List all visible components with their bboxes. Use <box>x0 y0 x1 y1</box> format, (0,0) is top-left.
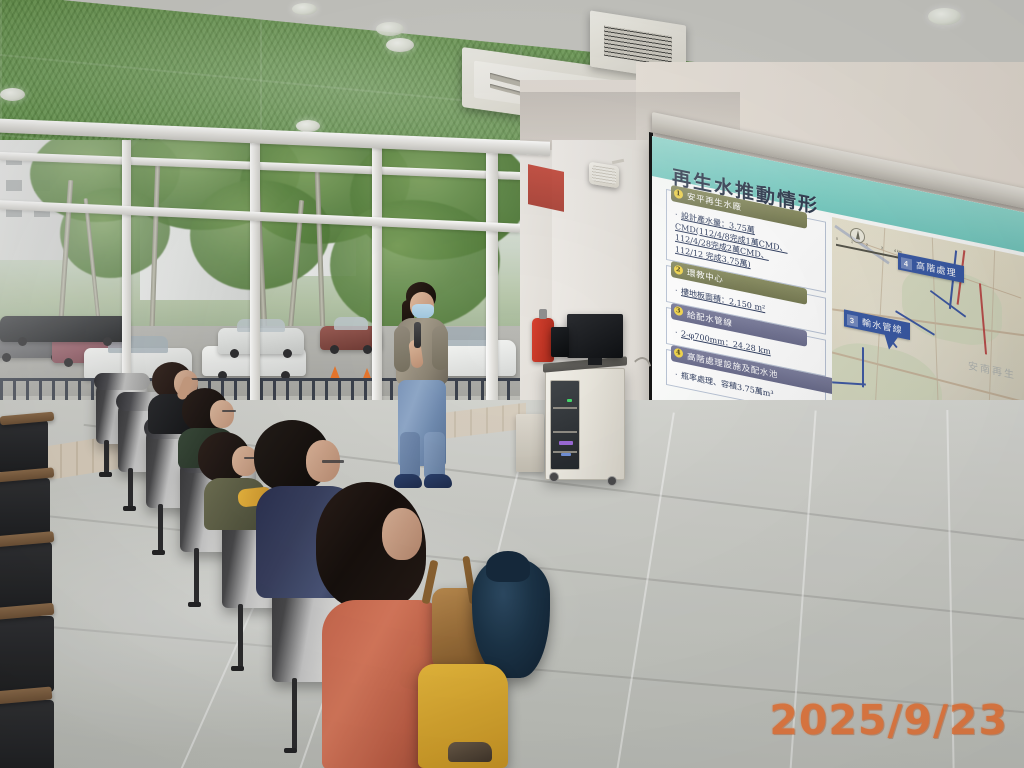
ceiling-downlight <box>296 120 320 132</box>
wall-accent-stripe <box>528 164 564 212</box>
microphone[interactable] <box>414 322 421 348</box>
equipment-led <box>567 399 572 402</box>
photo-scene: 再生水推動情形 1 安平再生水廠 ·設計產水量：3.75萬 CMD(112/4/… <box>0 0 1024 768</box>
ceiling-downlight <box>928 8 961 25</box>
parked-car <box>218 328 304 354</box>
chair-row-left[interactable] <box>0 606 70 690</box>
slide-card-number: 4 <box>674 348 683 359</box>
presenter-shoe-right <box>424 474 452 488</box>
parked-car <box>0 316 130 342</box>
chair-row-left[interactable] <box>0 534 68 606</box>
date-stamp: 2025/9/23 <box>769 696 1008 744</box>
presenter-arm-left <box>394 326 410 372</box>
slide-card-number: 2 <box>674 264 683 275</box>
media-player[interactable] <box>551 327 569 357</box>
slide-card-number: 1 <box>674 188 683 199</box>
equipment-led <box>561 453 571 456</box>
slide-bullet-column: 1 安平再生水廠 ·設計產水量：3.75萬 CMD(112/4/8完成1萬CMD… <box>666 189 826 423</box>
step-stool <box>516 414 544 472</box>
cabinet-caster <box>549 472 559 482</box>
wall-speaker <box>589 162 619 189</box>
cabinet-glass-door[interactable] <box>550 380 580 470</box>
presenter-arm-right <box>432 326 448 370</box>
monitor[interactable] <box>567 314 623 358</box>
av-cabinet[interactable] <box>545 368 625 480</box>
ceiling-downlight <box>376 22 404 36</box>
presenter-shoe-left <box>394 474 422 488</box>
sandal <box>448 742 492 762</box>
slide-card-heading: 環教中心 <box>687 269 723 286</box>
ceiling-downlight <box>0 88 25 101</box>
ceiling-downlight <box>386 38 414 52</box>
slide-card-number: 3 <box>674 306 683 317</box>
ceiling-downlight <box>292 3 317 15</box>
backpack <box>472 558 550 678</box>
chair-row-left[interactable] <box>0 470 66 536</box>
map-label-number: 4 <box>901 257 912 270</box>
chair-row-left[interactable] <box>0 414 66 474</box>
map-watermark: 安南再生 <box>968 357 1016 382</box>
presenter <box>386 282 458 490</box>
presenter-jeans-left <box>400 432 420 480</box>
equipment-led <box>559 441 573 445</box>
map-label-text: 輸水管線 <box>862 318 903 336</box>
chair-row-left[interactable] <box>0 690 70 768</box>
face-mask <box>412 304 434 319</box>
map-label-number: 3 <box>847 314 858 327</box>
presenter-jeans-right <box>424 432 445 480</box>
cabinet-caster <box>607 476 617 486</box>
